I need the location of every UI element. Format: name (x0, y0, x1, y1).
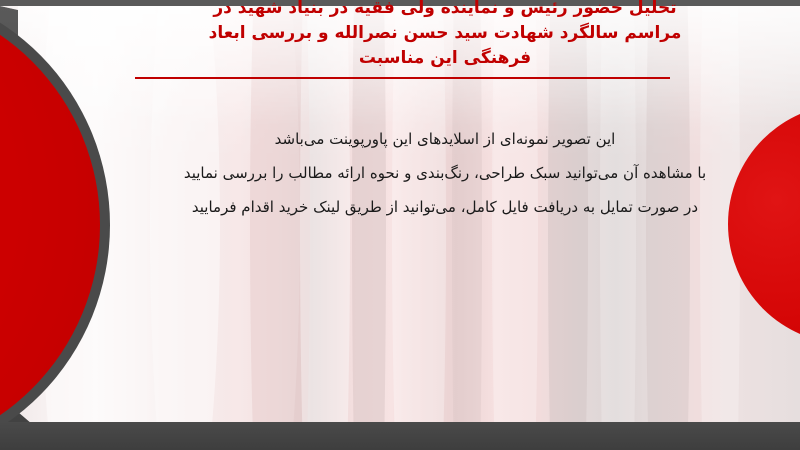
title-line-3: فرهنگی این مناسبت (120, 46, 770, 71)
body-line-2: با مشاهده آن می‌توانید سبک طراحی، رنگ‌بن… (120, 156, 770, 190)
slide-title: تحلیل حضور رئیس و نماینده ولی فقیه در بن… (120, 0, 770, 71)
title-line-1: تحلیل حضور رئیس و نماینده ولی فقیه در بن… (120, 0, 770, 21)
body-line-3: در صورت تمایل به دریافت فایل کامل، می‌تو… (120, 190, 770, 224)
presentation-slide: تحلیل حضور رئیس و نماینده ولی فقیه در بن… (0, 0, 800, 450)
title-divider-rule (135, 77, 670, 79)
body-line-1: این تصویر نمونه‌ای از اسلایدهای این پاور… (120, 122, 770, 156)
dark-footer-bar (0, 422, 800, 450)
slide-body: این تصویر نمونه‌ای از اسلایدهای این پاور… (120, 122, 770, 224)
title-line-2: مراسم سالگرد شهادت سید حسن نصرالله و برر… (120, 21, 770, 46)
